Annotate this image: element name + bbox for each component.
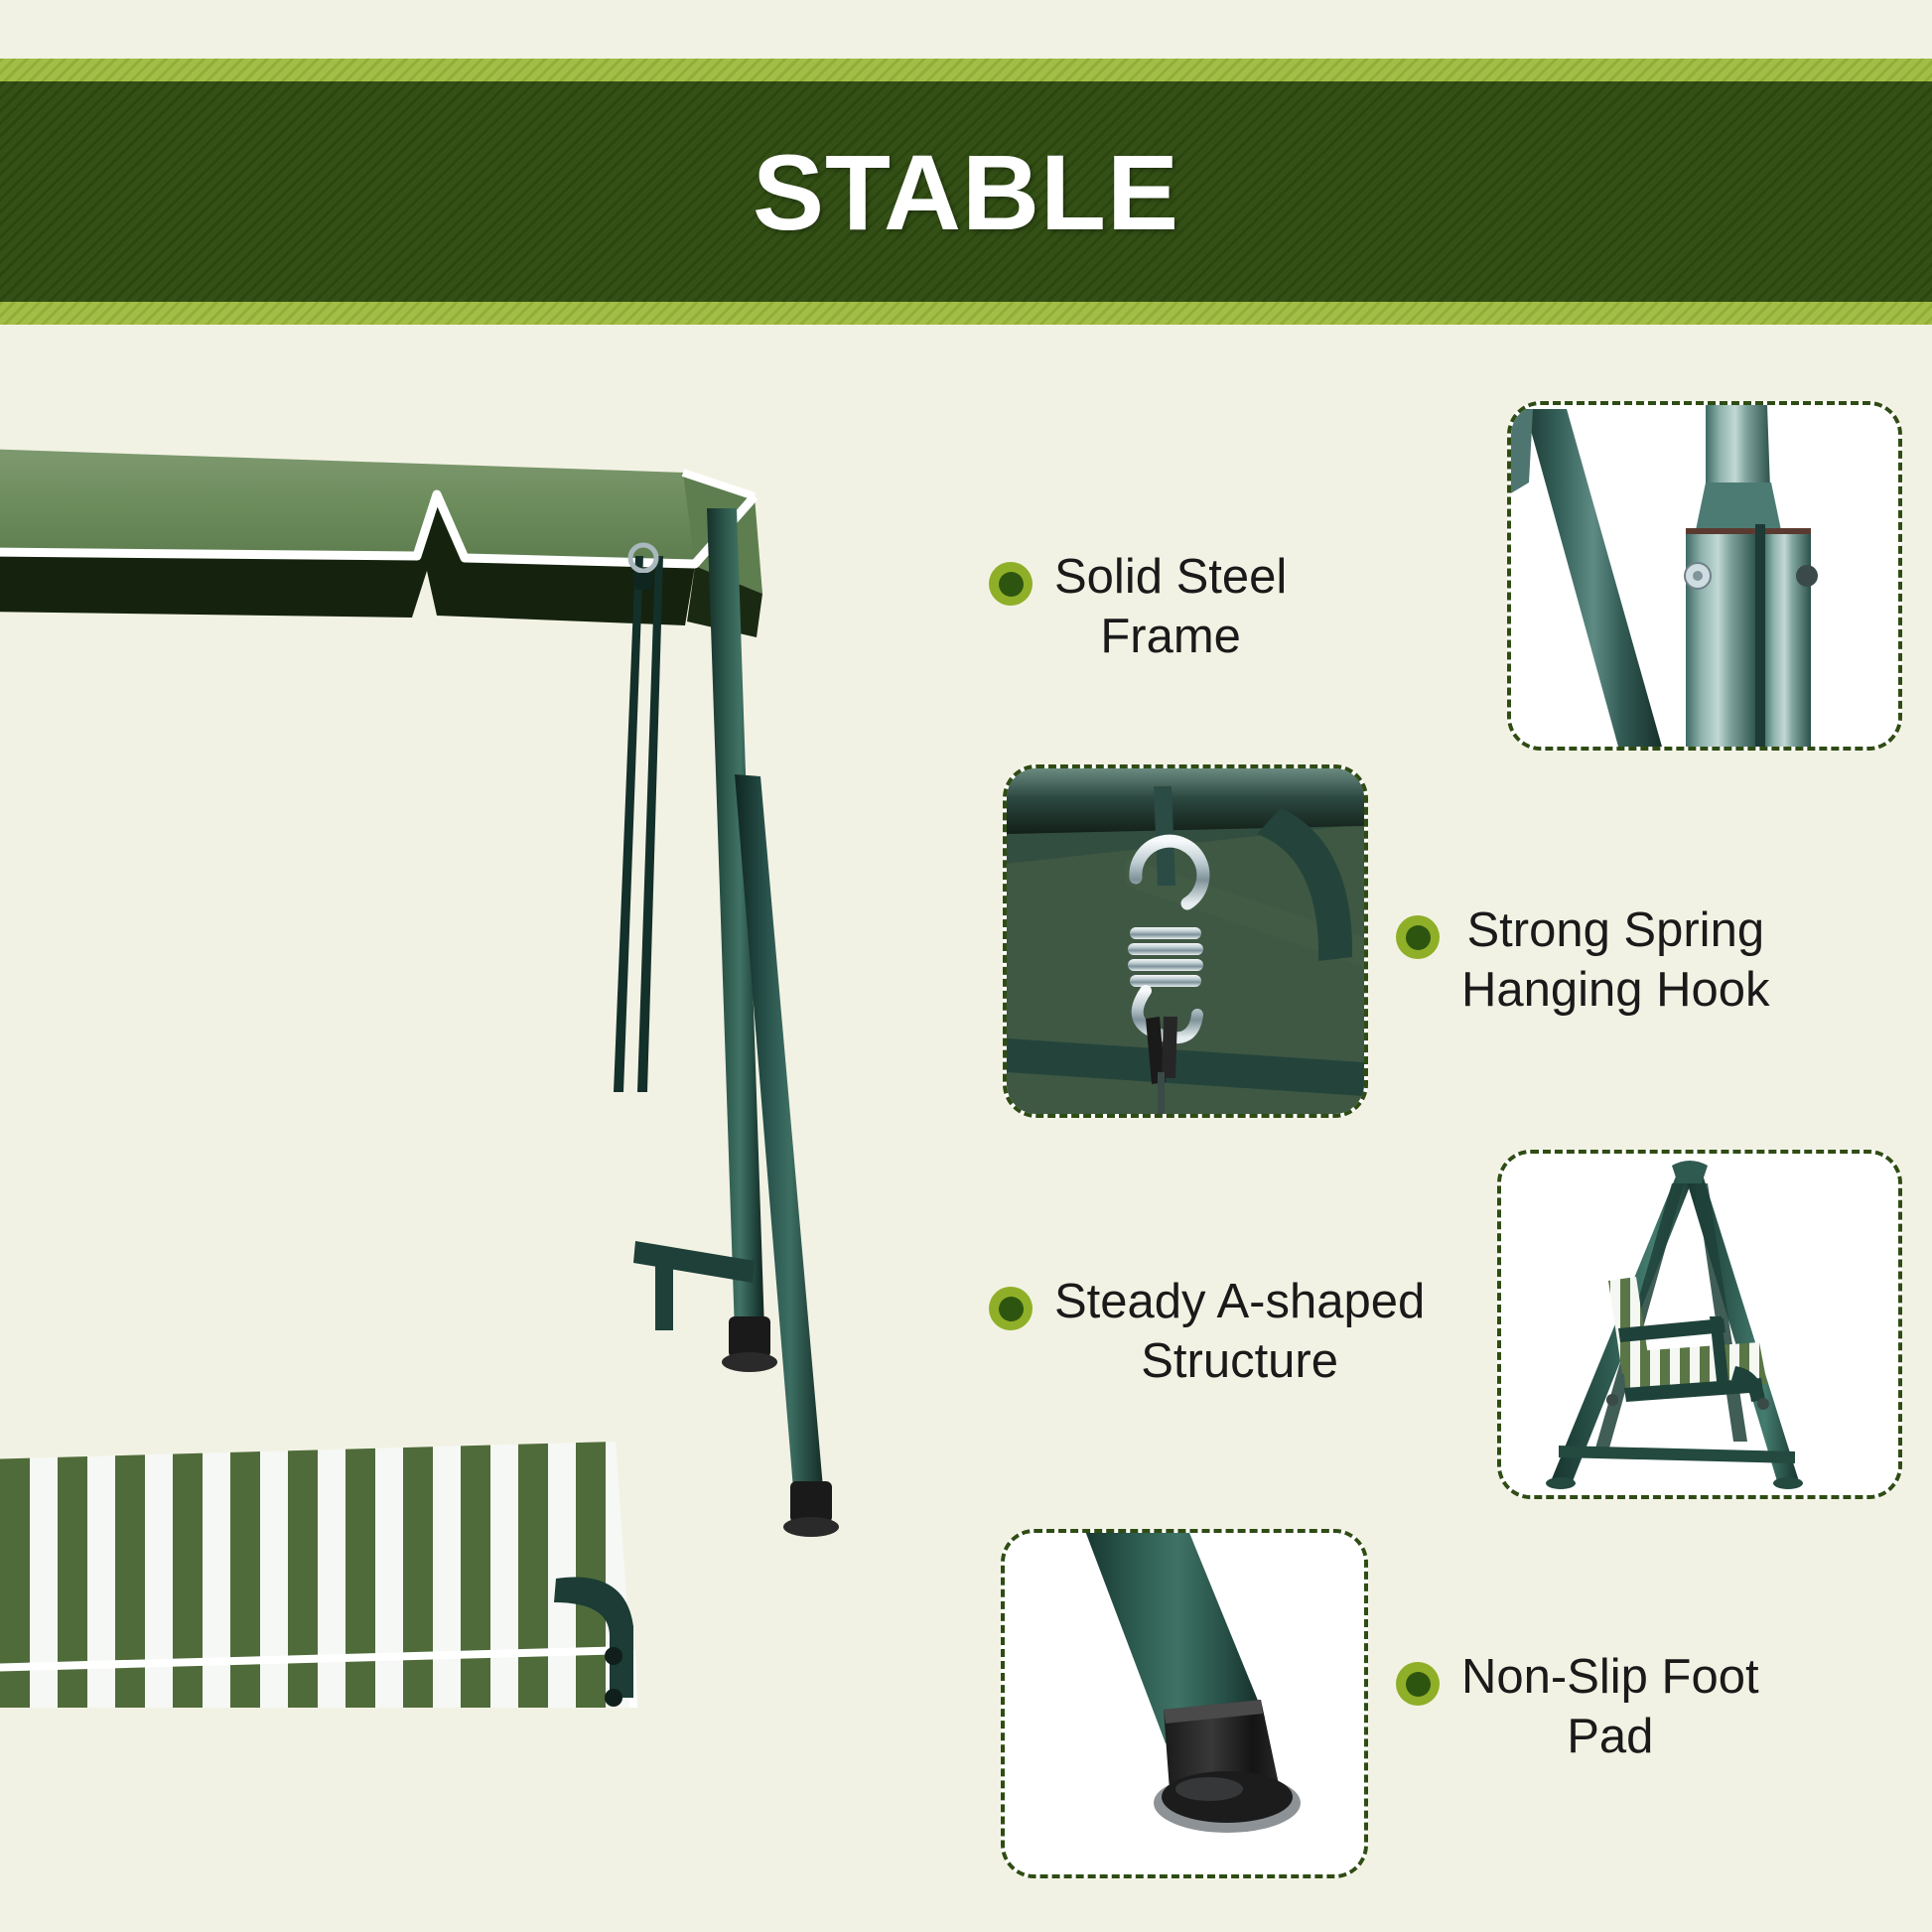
joint-sleeve-right (1763, 530, 1811, 747)
bolt-right (1757, 1398, 1769, 1410)
feature-label-text: Steady A-shaped Structure (1054, 1273, 1425, 1392)
detail-photo-solid-steel-frame (1507, 401, 1902, 751)
product-photo-swing-chair (0, 377, 953, 1708)
feature-label-solid-steel-frame: Solid Steel Frame (989, 548, 1416, 667)
rear-leg-foot-base (783, 1517, 839, 1537)
hanging-hook-body (632, 573, 654, 590)
hanging-strap-front (614, 556, 643, 1092)
joint-flare (1696, 483, 1781, 530)
detail-photo-a-shaped-structure (1497, 1150, 1902, 1499)
page-title: STABLE (0, 59, 1932, 325)
sleeve-lip-right (1763, 528, 1811, 534)
hook-wire-tail (1158, 1072, 1165, 1114)
hanging-strap-back (637, 556, 663, 1092)
bullet-icon (1396, 915, 1440, 959)
feature-label-text: Non-Slip Foot Pad (1461, 1648, 1759, 1767)
a-frame-apex (1672, 1161, 1708, 1183)
screw-left-head (1693, 571, 1703, 581)
foot-pad-artwork (1005, 1533, 1364, 1874)
bullet-icon (989, 1287, 1033, 1330)
feature-label-steady-a-shaped-structure: Steady A-shaped Structure (989, 1273, 1455, 1392)
infographic-page: STABLE (0, 0, 1932, 1932)
feature-label-text: Solid Steel Frame (1054, 548, 1287, 667)
bullet-icon (1396, 1662, 1440, 1706)
sleeve-lip-left (1686, 528, 1757, 534)
spring-hook-artwork (1007, 768, 1364, 1114)
bolt-left (1606, 1394, 1618, 1406)
detail-photo-non-slip-foot-pad (1001, 1529, 1368, 1878)
armrest-bolt-upper (605, 1647, 622, 1665)
bullet-icon (989, 562, 1033, 606)
feature-label-non-slip-foot-pad: Non-Slip Foot Pad (1396, 1648, 1912, 1767)
foot-pad-highlight (1175, 1777, 1243, 1801)
frame-brace-stub (655, 1251, 673, 1330)
steel-frame-joint-artwork (1511, 405, 1898, 747)
header-banner: STABLE (0, 59, 1932, 325)
a-frame-side-view-artwork (1501, 1154, 1898, 1495)
a-frame-right-foot (1773, 1477, 1803, 1489)
top-frame-rail (1007, 768, 1364, 834)
black-safety-clip-right (1162, 1017, 1177, 1078)
feature-label-text: Strong Spring Hanging Hook (1461, 901, 1770, 1021)
screw-right (1796, 565, 1818, 587)
sleeve-gap-shadow (1755, 524, 1765, 747)
front-leg-foot-cap (729, 1316, 770, 1358)
front-leg-foot-base (722, 1352, 777, 1372)
a-frame-left-foot (1546, 1477, 1576, 1489)
swing-chair-illustration (0, 377, 953, 1708)
armrest-bolt-lower (605, 1689, 622, 1707)
detail-photo-spring-hanging-hook (1003, 764, 1368, 1118)
feature-label-strong-spring-hanging-hook: Strong Spring Hanging Hook (1396, 901, 1912, 1021)
rear-leg-foot-cap (790, 1481, 832, 1523)
canopy-top-fabric (0, 449, 695, 564)
